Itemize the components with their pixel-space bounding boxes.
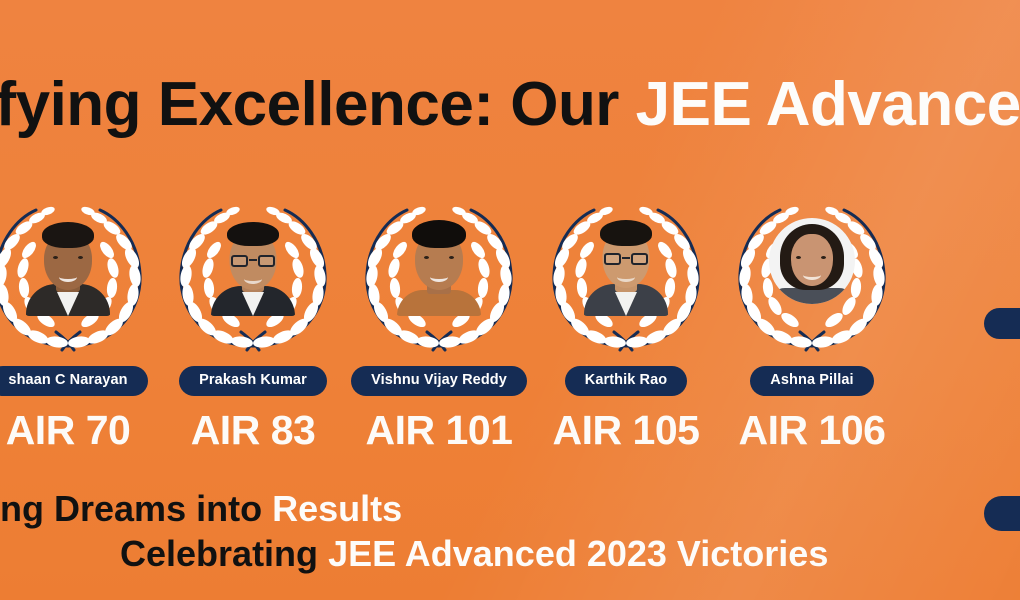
winner-rank-3: AIR 101 <box>345 410 533 451</box>
winner-rank-4: AIR 105 <box>532 410 720 451</box>
winner-card-2: Prakash Kumar AIR 83 <box>159 196 347 451</box>
winner-photo-5 <box>769 218 855 304</box>
page-title: lifying Excellence: Our JEE Advanced <box>0 74 1020 136</box>
tagline-line-2: Celebrating JEE Advanced 2023 Victories <box>0 531 1020 576</box>
winner-card-5: Ashna Pillai AIR 106 <box>718 196 906 451</box>
winner-rank-1: AIR 70 <box>0 410 162 451</box>
winner-name-pill-4: Karthik Rao <box>565 366 687 396</box>
laurel-medallion-4 <box>532 196 720 360</box>
winner-name-pill-1: shaan C Narayan <box>0 366 148 396</box>
tagline-line-1: rming Dreams into Results <box>0 486 1020 531</box>
winner-card-1: shaan C Narayan AIR 70 <box>0 196 162 451</box>
winners-row: shaan C Narayan AIR 70 <box>0 196 1020 466</box>
tagline-line-2-dark: Celebrating <box>120 533 318 574</box>
tagline-block: rming Dreams into Results Celebrating JE… <box>0 486 1020 576</box>
headline-highlight-text: JEE Advanced <box>636 70 1020 139</box>
laurel-medallion-5 <box>718 196 906 360</box>
winner-card-3: Vishnu Vijay Reddy AIR 101 <box>345 196 533 451</box>
winner-name-pill-5: Ashna Pillai <box>750 366 873 396</box>
jee-advanced-results-banner: lifying Excellence: Our JEE Advanced <box>0 0 1020 600</box>
tagline-line-2-light: JEE Advanced 2023 Victories <box>328 533 828 574</box>
tagline-line-1-light: Results <box>272 488 402 529</box>
laurel-medallion-1 <box>0 196 162 360</box>
winner-name-pill-2: Prakash Kumar <box>179 366 327 396</box>
winner-card-4: Karthik Rao AIR 105 <box>532 196 720 451</box>
laurel-medallion-3 <box>345 196 533 360</box>
tagline-line-1-dark: rming Dreams into <box>0 488 262 529</box>
laurel-medallion-2 <box>159 196 347 360</box>
winner-photo-4 <box>583 212 669 316</box>
winner-rank-2: AIR 83 <box>159 410 347 451</box>
winner-rank-5: AIR 106 <box>718 410 906 451</box>
winner-name-pill-3: Vishnu Vijay Reddy <box>351 366 527 396</box>
winner-photo-2 <box>210 212 296 316</box>
navy-pill-shape-1 <box>984 308 1020 339</box>
winner-photo-1 <box>25 212 111 316</box>
winner-photo-3 <box>396 212 482 316</box>
navy-pill-shape-2 <box>984 496 1020 531</box>
headline-dark-text: lifying Excellence: Our <box>0 70 619 139</box>
